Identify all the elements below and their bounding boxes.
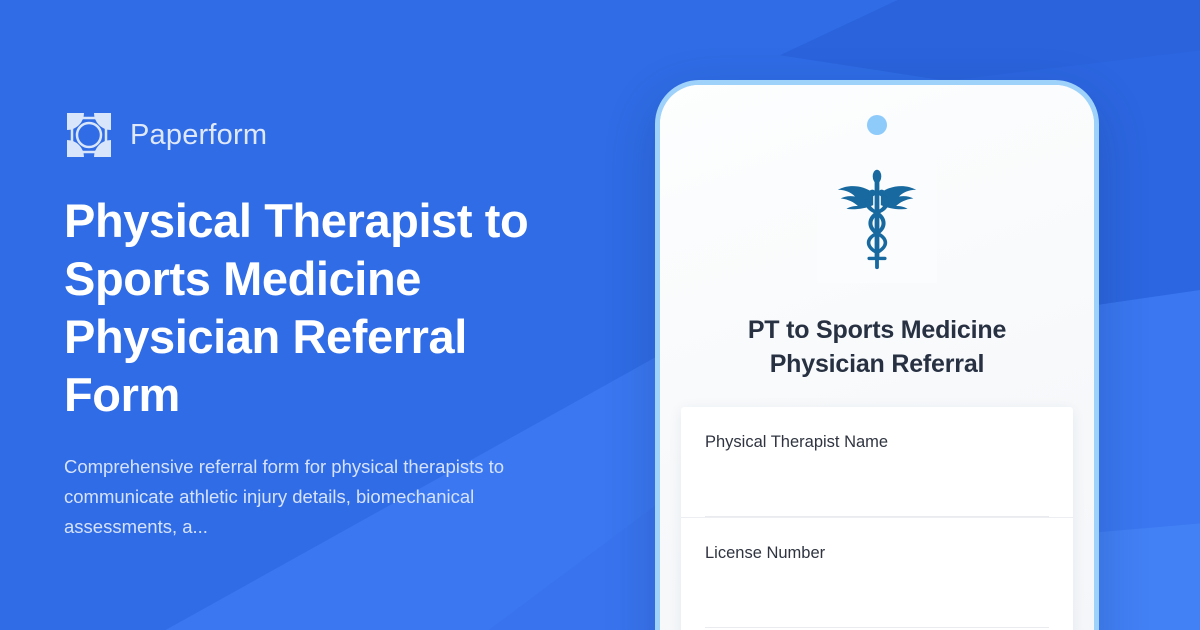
form-hero-image: [660, 153, 1094, 283]
camera-dot-icon: [867, 115, 887, 135]
phone-screen: PT to Sports Medicine Physician Referral…: [660, 85, 1094, 630]
form-field-physical-therapist-name[interactable]: Physical Therapist Name: [681, 407, 1073, 518]
brand-lockup: Paperform: [64, 106, 624, 164]
field-label: License Number: [705, 542, 1049, 564]
form-field-license-number[interactable]: License Number: [681, 518, 1073, 628]
caduceus-icon: [829, 163, 925, 273]
social-share-card: Paperform Physical Therapist to Sports M…: [0, 0, 1200, 630]
brand-name: Paperform: [130, 119, 267, 152]
physical-therapist-name-input[interactable]: [705, 467, 1049, 517]
field-label: Physical Therapist Name: [705, 431, 1049, 453]
license-number-input[interactable]: [705, 578, 1049, 628]
page-title: Physical Therapist to Sports Medicine Ph…: [64, 192, 574, 424]
paperform-logo-icon: [64, 110, 114, 160]
form-fields: Physical Therapist Name License Number: [681, 407, 1073, 630]
phone-mockup: PT to Sports Medicine Physician Referral…: [655, 80, 1099, 630]
page-description: Comprehensive referral form for physical…: [64, 452, 564, 542]
hero-content: Paperform Physical Therapist to Sports M…: [64, 106, 624, 542]
form-title: PT to Sports Medicine Physician Referral: [694, 313, 1060, 381]
